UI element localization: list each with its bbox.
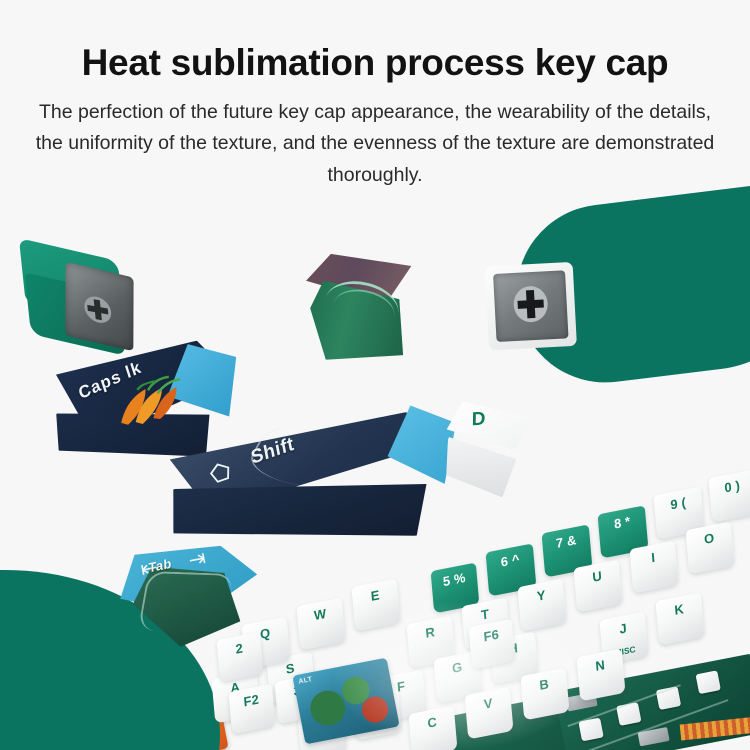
key-legend: F2 (229, 689, 274, 712)
keyboard-key[interactable]: N (576, 649, 625, 702)
keyboard-key[interactable]: E (351, 579, 400, 632)
key-legend: U (574, 565, 620, 589)
key-legend: W (297, 603, 343, 627)
key-legend: 7 & (542, 529, 590, 553)
floating-keycap-underside (485, 262, 584, 359)
key-legend: 8 * (598, 510, 646, 534)
floating-keycap-teal (21, 242, 150, 364)
key-legend: E (352, 584, 398, 608)
key-legend: F6 (469, 624, 514, 647)
key-legend: C (409, 711, 455, 735)
key-legend: R (407, 621, 453, 645)
keyboard-key[interactable]: K (655, 593, 704, 646)
keycap-label-d: D (471, 409, 485, 432)
keyboard-key[interactable]: C (408, 706, 457, 750)
keyboard-key[interactable]: V (464, 687, 513, 740)
art-key-label: ALT (298, 676, 313, 686)
keycap-seam-highlight (138, 571, 234, 634)
keyboard-key[interactable]: 0 ) (708, 470, 750, 523)
keyboard-key[interactable]: W (296, 598, 345, 651)
header: Heat sublimation process key cap The per… (0, 0, 750, 192)
key-legend: N (577, 654, 623, 678)
keyboard-key[interactable]: I (629, 541, 678, 594)
key-legend: J (600, 617, 646, 641)
keyboard-key[interactable]: B (520, 668, 569, 721)
key-legend: I (630, 546, 676, 570)
key-legend: 6 ^ (486, 548, 534, 572)
keyboard-key[interactable]: F6 (469, 619, 516, 669)
keyboard-key[interactable]: U (573, 560, 622, 613)
key-legend: Y (518, 584, 564, 608)
key-legend: 5 % (431, 568, 477, 592)
key-legend: O (686, 527, 732, 551)
product-poster: Heat sublimation process key cap The per… (0, 0, 750, 750)
keyboard-key[interactable]: F2 (229, 684, 276, 734)
floating-keycap-d: D (437, 400, 541, 502)
key-legend: K (656, 598, 702, 622)
key-legend: V (465, 692, 511, 716)
floating-keycap-tab: Tab (111, 543, 268, 663)
key-legend: 9 ( (654, 491, 702, 515)
key-legend: 0 ) (709, 475, 750, 499)
page-subtitle: The perfection of the future key cap app… (25, 97, 725, 192)
keyboard-key[interactable]: O (685, 522, 734, 575)
keyboard-key[interactable]: Y (517, 579, 566, 632)
page-title: Heat sublimation process key cap (0, 44, 750, 83)
floating-keycap-prism (296, 252, 422, 372)
key-legend: B (521, 673, 567, 697)
